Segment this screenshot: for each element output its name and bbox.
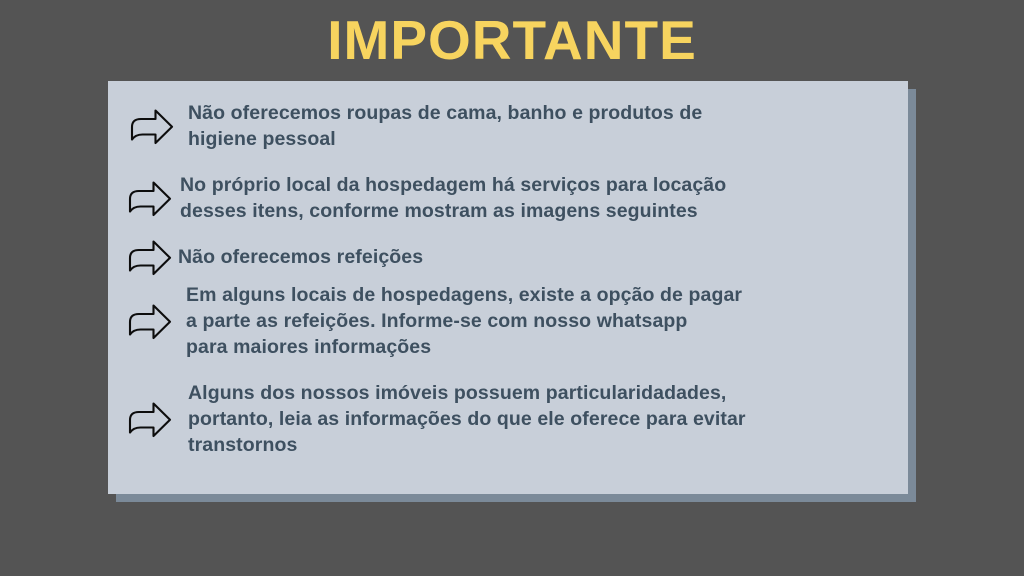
bent-right-arrow-outline-icon <box>128 303 172 341</box>
list-item: No próprio local da hospedagem há serviç… <box>128 173 893 225</box>
content-panel: Não oferecemos roupas de cama, banho e p… <box>108 81 908 494</box>
list-item-label: Não oferecemos roupas de cama, banho e p… <box>188 101 702 153</box>
list-item: Não oferecemos roupas de cama, banho e p… <box>130 101 890 153</box>
bent-right-arrow-outline-icon <box>128 401 172 439</box>
bullet-list: Não oferecemos roupas de cama, banho e p… <box>108 81 908 494</box>
list-item: Em alguns locais de hospedagens, existe … <box>128 283 893 361</box>
list-item: Alguns dos nossos imóveis possuem partic… <box>128 381 893 459</box>
bent-right-arrow-outline-icon <box>128 239 172 277</box>
list-item-label: No próprio local da hospedagem há serviç… <box>180 173 726 225</box>
list-item-label: Em alguns locais de hospedagens, existe … <box>186 283 742 361</box>
list-item-label: Não oferecemos refeições <box>178 245 423 271</box>
page-title: IMPORTANTE <box>0 12 1024 70</box>
list-item-label: Alguns dos nossos imóveis possuem partic… <box>188 381 746 459</box>
slide-canvas: IMPORTANTE Não oferecemos roupas de cama… <box>0 0 1024 576</box>
bent-right-arrow-outline-icon <box>130 108 174 146</box>
bent-right-arrow-outline-icon <box>128 180 172 218</box>
list-item: Não oferecemos refeições <box>128 239 888 277</box>
